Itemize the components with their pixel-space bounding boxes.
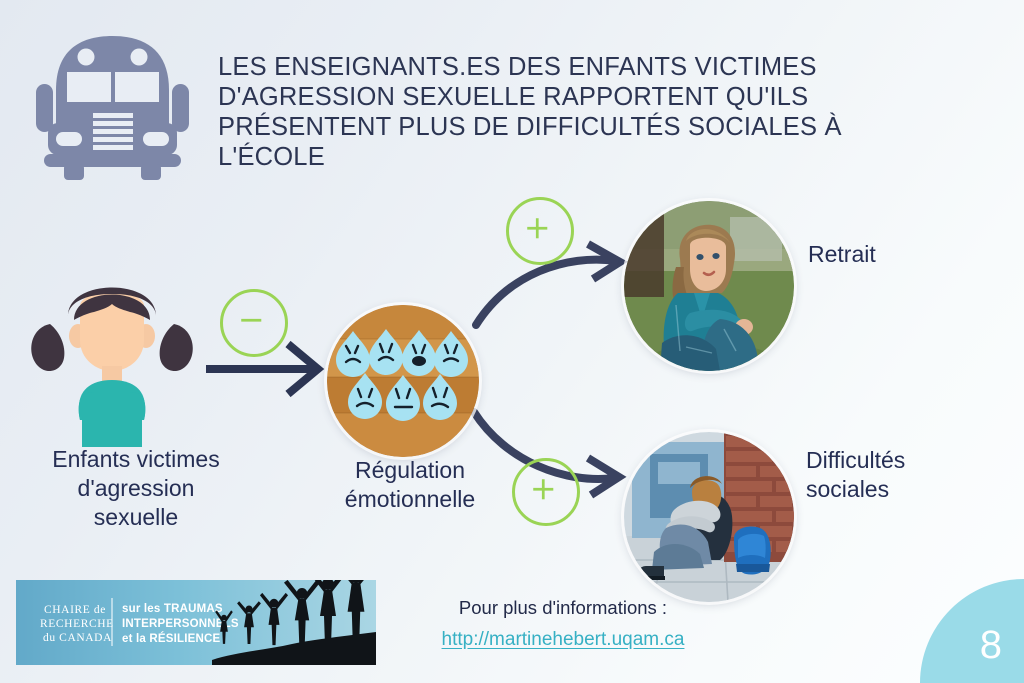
svg-text:et la RÉSILIENCE: et la RÉSILIENCE [122, 632, 221, 645]
node-label-withdrawal: Retrait [808, 240, 1008, 269]
node-label-source: Enfants victimes d'agression sexuelle [0, 445, 272, 532]
girl-avatar [12, 262, 212, 447]
slide-canvas: LES ENSEIGNANTS.ES DES ENFANTS VICTIMES … [0, 0, 1024, 683]
plus-circle-icon [506, 197, 574, 265]
node-label-withdrawal-line-1: Retrait [808, 240, 1008, 269]
boy-against-wall-photo [624, 432, 794, 602]
svg-text:RECHERCHE: RECHERCHE [40, 618, 114, 630]
node-label-source-line-3: sexuelle [0, 503, 272, 532]
svg-text:du CANADA: du CANADA [43, 632, 112, 644]
node-label-social: Difficultés sociales [806, 446, 1016, 504]
minus-circle-icon [220, 289, 288, 357]
node-label-mediator-line-1: Régulation [300, 456, 520, 485]
node-label-source-line-1: Enfants victimes [0, 445, 272, 474]
node-label-mediator: Régulation émotionnelle [300, 456, 520, 514]
chaire-recherche-canada-logo: CHAIRE de RECHERCHE du CANADA sur les TR… [16, 580, 376, 665]
svg-text:CHAIRE de: CHAIRE de [44, 604, 106, 616]
school-bus-icon [30, 28, 195, 180]
page-number-badge [920, 579, 1024, 683]
node-label-mediator-line-2: émotionnelle [300, 485, 520, 514]
website-link[interactable]: http://martinehebert.uqam.ca [442, 627, 685, 653]
sad-faces-photo [327, 305, 479, 457]
page-title: LES ENSEIGNANTS.ES DES ENFANTS VICTIMES … [218, 52, 918, 172]
footer-info-label: Pour plus d'informations : [398, 595, 728, 621]
node-label-social-line-2: sociales [806, 475, 1016, 504]
plus-circle-icon [512, 458, 580, 526]
page-number: 8 [980, 623, 1002, 667]
footer-info: Pour plus d'informations : http://martin… [398, 595, 728, 653]
node-label-source-line-2: d'agression [0, 474, 272, 503]
girl-sitting-grass-photo [624, 201, 794, 371]
node-label-social-line-1: Difficultés [806, 446, 1016, 475]
svg-text:sur les TRAUMAS: sur les TRAUMAS [122, 603, 223, 615]
